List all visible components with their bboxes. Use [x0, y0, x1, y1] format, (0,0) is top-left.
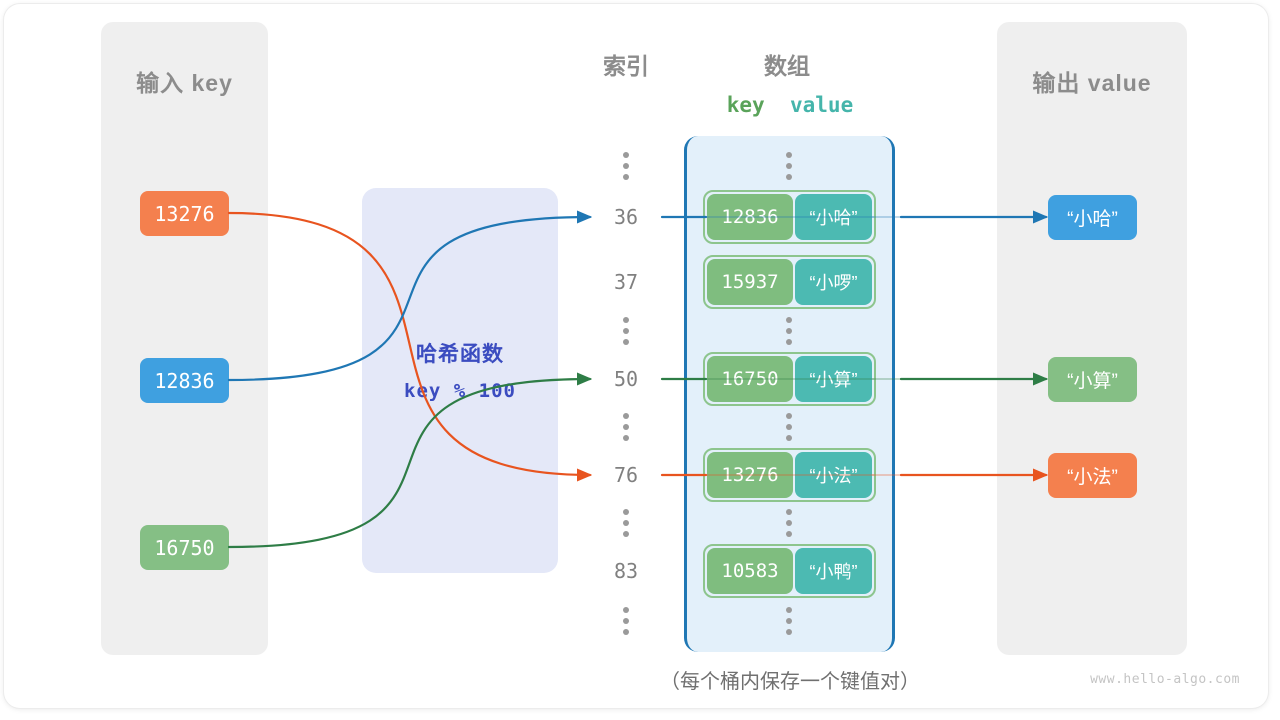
bucket-entry: 12836“小哈”	[703, 190, 876, 244]
array-column-heading: 数组	[742, 47, 832, 81]
array-ellipsis-icon	[786, 413, 792, 441]
input-key-chip: 13276	[140, 191, 229, 236]
diagram-canvas: 输入 key 输出 value 索引 数组 key value 哈希函数 key…	[0, 0, 1280, 720]
input-key-chip: 16750	[140, 525, 229, 570]
input-key-chip: 12836	[140, 358, 229, 403]
index-label: 76	[598, 463, 654, 487]
bucket-key-cell: 16750	[707, 356, 793, 402]
bucket-value-cell: “小哈”	[795, 194, 872, 240]
bucket-key-cell: 10583	[707, 548, 793, 594]
bucket-entry: 16750“小算”	[703, 352, 876, 406]
output-value-panel: 输出 value	[997, 22, 1187, 655]
hash-function-title: 哈希函数	[362, 338, 558, 368]
bucket-value-cell: “小鸭”	[795, 548, 872, 594]
index-label: 50	[598, 367, 654, 391]
input-panel-title: 输入 key	[101, 64, 268, 98]
bucket-key-cell: 15937	[707, 259, 793, 305]
array-ellipsis-icon	[786, 317, 792, 345]
kv-value-label: value	[790, 93, 853, 117]
bucket-value-cell: “小啰”	[795, 259, 872, 305]
kv-key-label: key	[727, 93, 765, 117]
key-value-subheading: key value	[670, 93, 910, 117]
index-ellipsis-icon	[623, 413, 629, 441]
watermark: www.hello-algo.com	[1090, 672, 1240, 687]
output-value-chip: “小哈”	[1048, 195, 1137, 240]
index-ellipsis-icon	[623, 607, 629, 635]
array-ellipsis-icon	[786, 607, 792, 635]
bucket-key-cell: 13276	[707, 452, 793, 498]
bucket-entry: 15937“小啰”	[703, 255, 876, 309]
bucket-entry: 13276“小法”	[703, 448, 876, 502]
output-value-chip: “小算”	[1048, 357, 1137, 402]
bucket-value-cell: “小算”	[795, 356, 872, 402]
index-label: 36	[598, 205, 654, 229]
index-column-heading: 索引	[598, 47, 654, 81]
index-label: 83	[598, 559, 654, 583]
array-ellipsis-icon	[786, 152, 792, 180]
index-ellipsis-icon	[623, 152, 629, 180]
bucket-entry: 10583“小鸭”	[703, 544, 876, 598]
hash-function-formula: key % 100	[362, 380, 558, 402]
index-ellipsis-icon	[623, 317, 629, 345]
array-ellipsis-icon	[786, 509, 792, 537]
index-label: 37	[598, 270, 654, 294]
bucket-key-cell: 12836	[707, 194, 793, 240]
output-panel-title: 输出 value	[997, 64, 1187, 98]
index-ellipsis-icon	[623, 509, 629, 537]
hash-function-box: 哈希函数 key % 100	[362, 188, 558, 573]
bucket-value-cell: “小法”	[795, 452, 872, 498]
output-value-chip: “小法”	[1048, 453, 1137, 498]
figure-caption: （每个桶内保存一个键值对）	[600, 665, 980, 694]
